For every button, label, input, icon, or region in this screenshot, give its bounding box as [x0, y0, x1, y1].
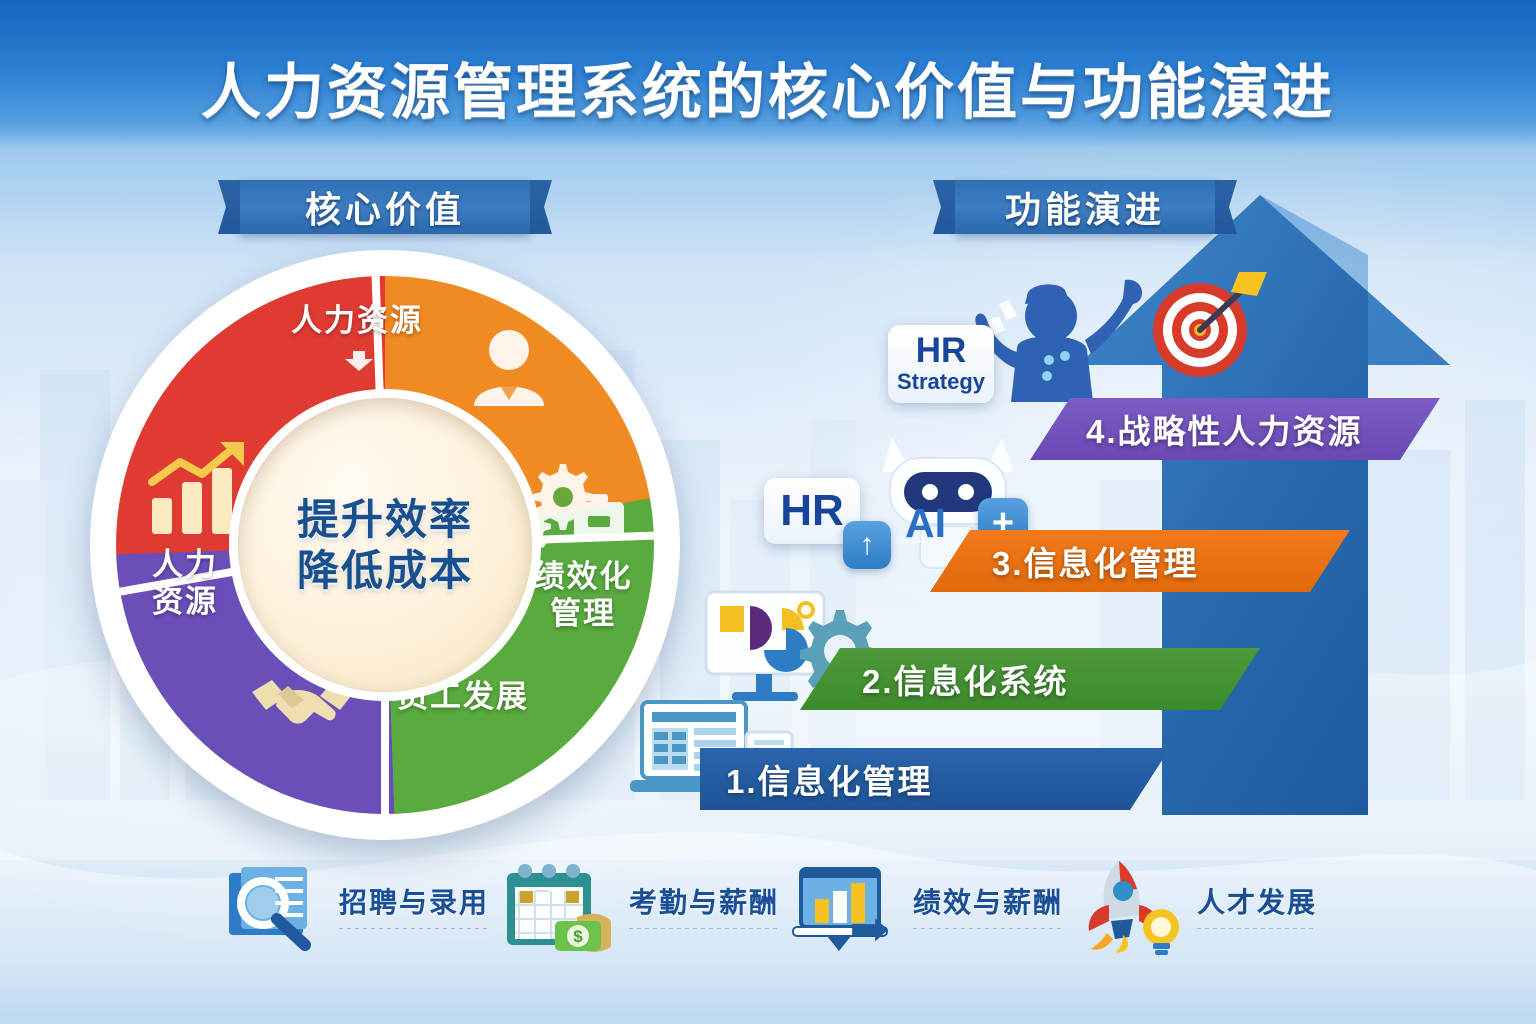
hr-badge-label: HR — [780, 486, 844, 536]
donut-segment-label-left: 人力 资源 — [120, 546, 250, 620]
section-header-evolution-label: 功能演进 — [1005, 181, 1165, 233]
rocket-bulb-icon — [1073, 857, 1185, 953]
evolution-step-1-label: 1.信息化管理 — [700, 755, 933, 803]
infographic-canvas: 人力资源管理系统的核心价值与功能演进 核心价值 功能演进 人力资源 — [0, 0, 1536, 1024]
evolution-step-1[interactable]: 1.信息化管理 — [700, 748, 1170, 810]
function-item-attendance-payroll-label: 考勤与薪酬 — [629, 881, 779, 929]
donut-segment-label-right: 绩效化 管理 — [518, 558, 648, 632]
section-header-core-value: 核心价值 — [240, 180, 530, 234]
user-icon — [466, 322, 552, 408]
section-header-evolution: 功能演进 — [955, 180, 1215, 234]
evolution-step-2[interactable]: 2.信息化系统 — [800, 648, 1260, 710]
evolution-step-4-label: 4.战略性人力资源 — [1030, 405, 1363, 453]
donut-segment-label-top: 人力资源 — [242, 302, 472, 373]
page-title: 人力资源管理系统的核心价值与功能演进 — [0, 44, 1536, 131]
hr-strategy-line1: HR — [916, 333, 967, 368]
book-magnifier-icon — [219, 859, 327, 951]
function-item-talent-development[interactable]: 人才发展 — [1073, 857, 1317, 953]
function-item-performance-compensation[interactable]: 绩效与薪酬 — [789, 859, 1063, 951]
evolution-step-2-label: 2.信息化系统 — [800, 655, 1069, 703]
svg-text:$: $ — [573, 927, 583, 946]
evolution-step-3-label: 3.信息化管理 — [930, 537, 1199, 585]
bar-chart-board-icon — [789, 859, 901, 951]
growth-chart-icon — [144, 442, 254, 536]
core-value-donut-chart: 人力资源 绩效化 管理 — [90, 250, 680, 840]
function-item-performance-compensation-label: 绩效与薪酬 — [913, 881, 1063, 929]
evolution-step-3[interactable]: 3.信息化管理 — [930, 530, 1350, 592]
function-item-talent-development-label: 人才发展 — [1197, 881, 1317, 929]
donut-center: 提升效率 降低成本 — [238, 398, 532, 692]
evolution-step-4[interactable]: 4.战略性人力资源 — [1030, 398, 1440, 460]
arrow-up-icon: ↑ — [843, 521, 891, 569]
section-header-core-value-label: 核心价值 — [305, 181, 465, 233]
hr-function-list: 招聘与录用 $ 考勤与薪酬 — [0, 840, 1536, 970]
function-item-recruitment-label: 招聘与录用 — [339, 881, 489, 929]
function-item-recruitment[interactable]: 招聘与录用 — [219, 859, 489, 951]
hr-strategy-line2: Strategy — [897, 368, 985, 396]
donut-center-line2: 降低成本 — [297, 545, 473, 596]
function-item-attendance-payroll[interactable]: $ 考勤与薪酬 — [499, 859, 779, 951]
hr-strategy-badge: HR Strategy — [888, 325, 994, 403]
donut-center-line1: 提升效率 — [297, 494, 473, 545]
arrow-down-icon — [337, 345, 377, 373]
target-bullseye-icon — [1145, 270, 1255, 380]
calendar-money-icon: $ — [499, 859, 617, 951]
